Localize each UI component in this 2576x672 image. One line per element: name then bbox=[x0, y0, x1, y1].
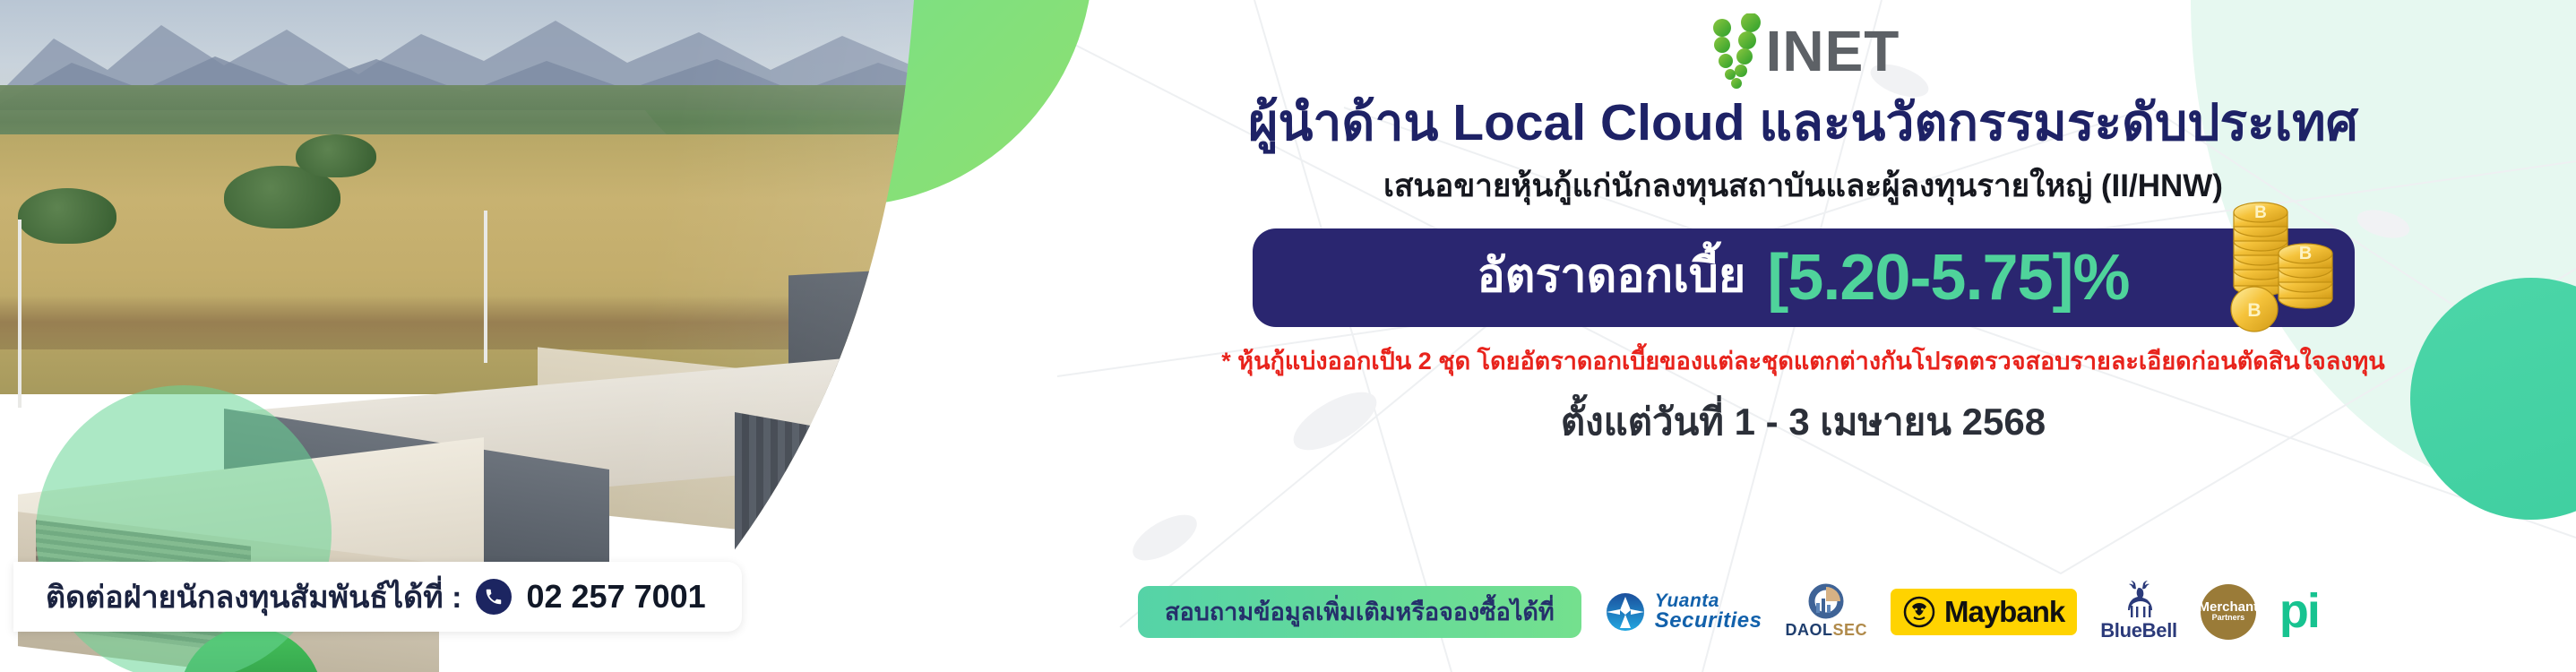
gold-bitcoin-coins-icon: B B B bbox=[2220, 200, 2346, 334]
maybank-tiger-icon bbox=[1903, 596, 1935, 628]
partner-logo-merchant-partners[interactable]: Merchant Partners bbox=[2201, 584, 2256, 640]
svg-text:B: B bbox=[2298, 244, 2311, 263]
page-subtitle: เสนอขายหุ้นกู้แก่นักลงทุนสถาบันและผู้ลงท… bbox=[1383, 161, 2223, 211]
bluebell-deer-icon bbox=[2119, 581, 2158, 618]
partner-logo-yuanta[interactable]: Yuanta Securities bbox=[1605, 591, 1762, 633]
svg-text:B: B bbox=[2254, 203, 2267, 222]
partner-logo-row: สอบถามข้อมูลเพิ่มเติมหรือจองซื้อได้ที่ Y… bbox=[1030, 581, 2576, 642]
partner-logo-pi[interactable]: pi bbox=[2279, 590, 2319, 633]
daol-line-2: SEC bbox=[1832, 621, 1867, 639]
pi-wordmark: pi bbox=[2279, 590, 2319, 633]
offer-date-range: ตั้งแต่วันที่ 1 - 3 เมษายน 2568 bbox=[1561, 392, 2046, 452]
contact-label: ติดต่อฝ่ายนักลงทุนสัมพันธ์ได้ที่ : bbox=[46, 573, 461, 621]
contact-phone-number[interactable]: 02 257 7001 bbox=[526, 578, 705, 616]
merchant-partners-badge: Merchant Partners bbox=[2201, 584, 2256, 640]
offer-content: INET ผู้นำด้าน Local Cloud และนวัตกรรมระ… bbox=[1030, 0, 2576, 672]
yuanta-star-icon bbox=[1605, 591, 1646, 633]
investor-relations-contact-card[interactable]: ติดต่อฝ่ายนักลงทุนสัมพันธ์ได้ที่ : 02 25… bbox=[13, 562, 742, 632]
daol-line-1: DAOL bbox=[1785, 621, 1832, 639]
inet-dots-logo-icon bbox=[1707, 13, 1771, 89]
inet-logo-text: INET bbox=[1766, 22, 1900, 80]
daol-wordmark: DAOLSEC bbox=[1785, 621, 1867, 640]
merchant-line-2: Partners bbox=[2212, 614, 2245, 623]
yuanta-line-2: Securities bbox=[1655, 610, 1762, 632]
yuanta-wordmark: Yuanta Securities bbox=[1655, 591, 1762, 632]
enquiry-cta-label: สอบถามข้อมูลเพิ่มเติมหรือจองซื้อได้ที่ bbox=[1165, 592, 1555, 631]
enquiry-cta-button[interactable]: สอบถามข้อมูลเพิ่มเติมหรือจองซื้อได้ที่ bbox=[1138, 586, 1581, 638]
bluebell-wordmark: BlueBell bbox=[2100, 619, 2177, 642]
partner-logo-maybank[interactable]: Maybank bbox=[1891, 589, 2077, 635]
offer-disclaimer: * หุ้นกู้แบ่งออกเป็น 2 ชุด โดยอัตราดอกเบ… bbox=[1221, 341, 2384, 380]
interest-rate-label: อัตราดอกเบี้ย bbox=[1477, 253, 1745, 303]
partner-logo-daol[interactable]: DAOLSEC bbox=[1785, 583, 1867, 640]
page-title: ผู้นำด้าน Local Cloud และนวัตกรรมระดับปร… bbox=[1248, 95, 2358, 152]
merchant-line-1: Merchant bbox=[2198, 600, 2258, 615]
interest-rate-value: [5.20-5.75]% bbox=[1767, 246, 2129, 310]
svg-text:B: B bbox=[2247, 300, 2261, 321]
partner-logo-bluebell[interactable]: BlueBell bbox=[2100, 581, 2177, 642]
inet-bond-offering-banner: ติดต่อฝ่ายนักลงทุนสัมพันธ์ได้ที่ : 02 25… bbox=[0, 0, 2576, 672]
maybank-wordmark: Maybank bbox=[1944, 595, 2064, 629]
interest-rate-box: อัตราดอกเบี้ย [5.20-5.75]% bbox=[1253, 228, 2355, 327]
phone-icon bbox=[476, 579, 512, 615]
daol-mark-icon bbox=[1805, 583, 1847, 619]
inet-logo: INET bbox=[1707, 13, 1900, 90]
